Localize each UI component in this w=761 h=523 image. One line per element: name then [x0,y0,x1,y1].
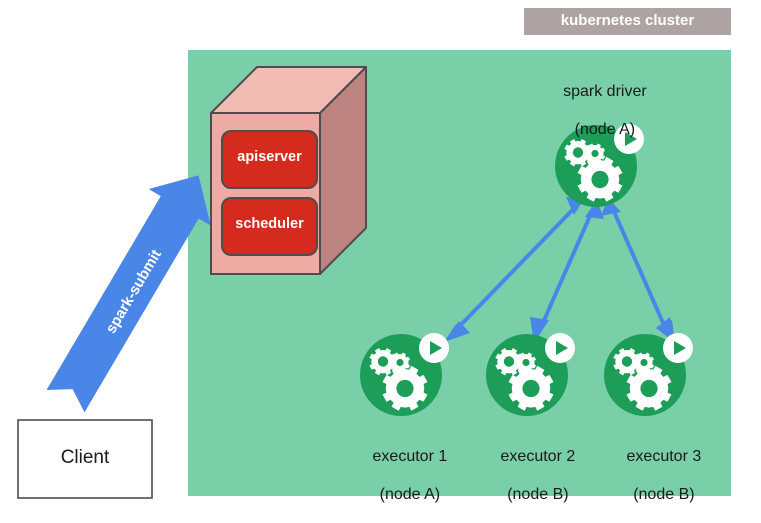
apiserver-chip [222,131,317,188]
kubernetes-control-plane [211,67,366,274]
diagram-graphics [0,0,761,516]
play-button-icon [614,124,644,154]
scheduler-chip [222,198,317,255]
play-button-icon [419,333,449,363]
play-button-icon [663,333,693,363]
diagram-canvas: kubernetes cluster apiserver scheduler s… [0,0,761,516]
kubernetes-cluster-badge [524,8,731,35]
client-box [18,420,152,498]
play-button-icon [545,333,575,363]
